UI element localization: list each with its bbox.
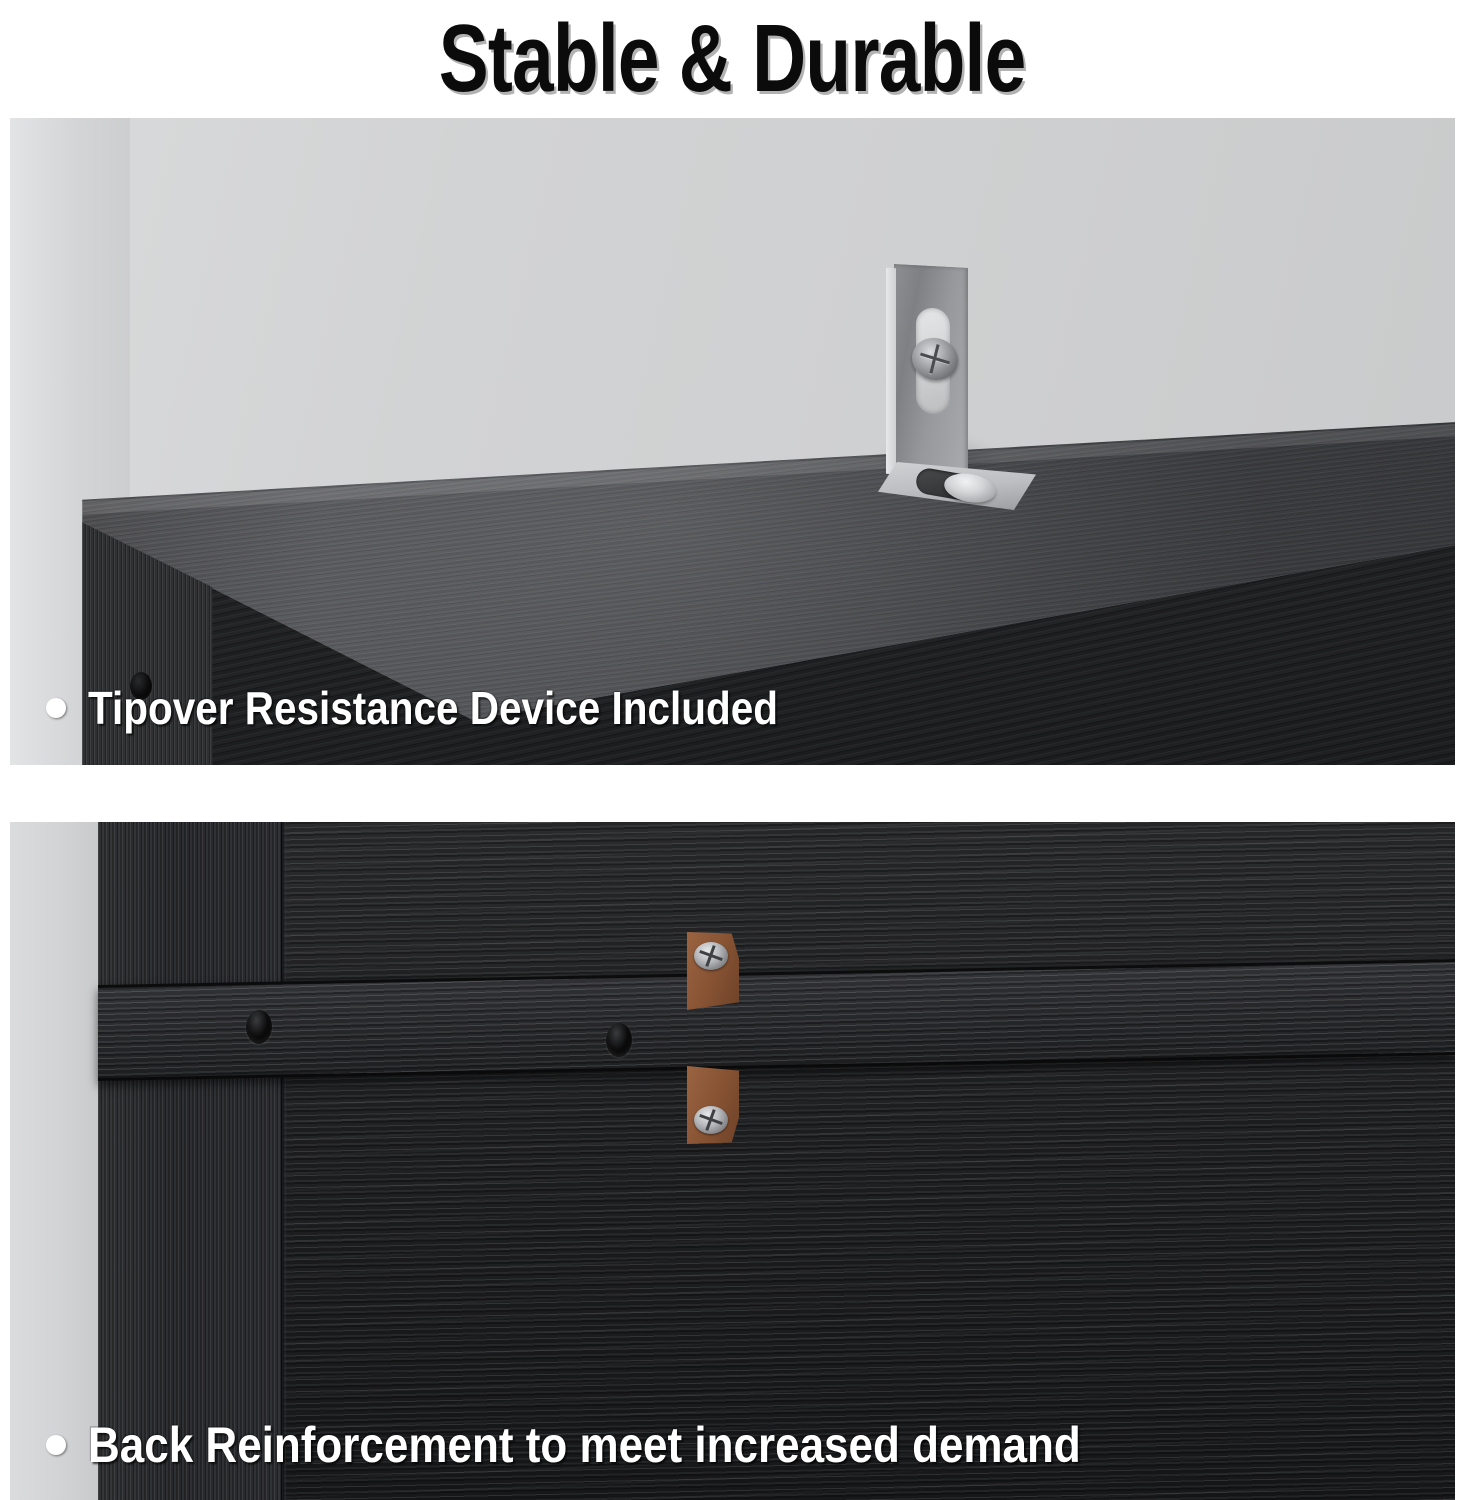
wall-background (10, 822, 98, 1500)
feature-caption-text: Back Reinforcement to meet increased dem… (88, 1420, 1081, 1470)
feature-caption-text: Tipover Resistance Device Included (88, 685, 778, 731)
cabinet-side-woodgrain (98, 822, 283, 1500)
phillips-screw-icon (694, 1106, 728, 1134)
feature-panel-reinforcement: Back Reinforcement to meet increased dem… (10, 822, 1455, 1500)
cabinet-back-woodgrain (283, 822, 1455, 1500)
plastic-corner-bracket (687, 932, 739, 1010)
feature-caption-tipover: Tipover Resistance Device Included (46, 685, 872, 731)
phillips-screw-icon (694, 942, 728, 970)
plastic-corner-bracket (687, 1066, 739, 1144)
bullet-icon (46, 698, 66, 718)
cabinet-corner-seam (281, 822, 286, 1500)
feature-panel-tipover: Tipover Resistance Device Included (10, 118, 1455, 765)
bullet-icon (46, 1435, 66, 1455)
bracket-vertical-plate-edge (886, 268, 896, 475)
page-title: Stable & Durable (439, 11, 1026, 107)
anti-tip-bracket (872, 266, 1042, 498)
feature-caption-reinforcement: Back Reinforcement to meet increased dem… (46, 1420, 1216, 1470)
page-title-bar: Stable & Durable (0, 0, 1465, 118)
